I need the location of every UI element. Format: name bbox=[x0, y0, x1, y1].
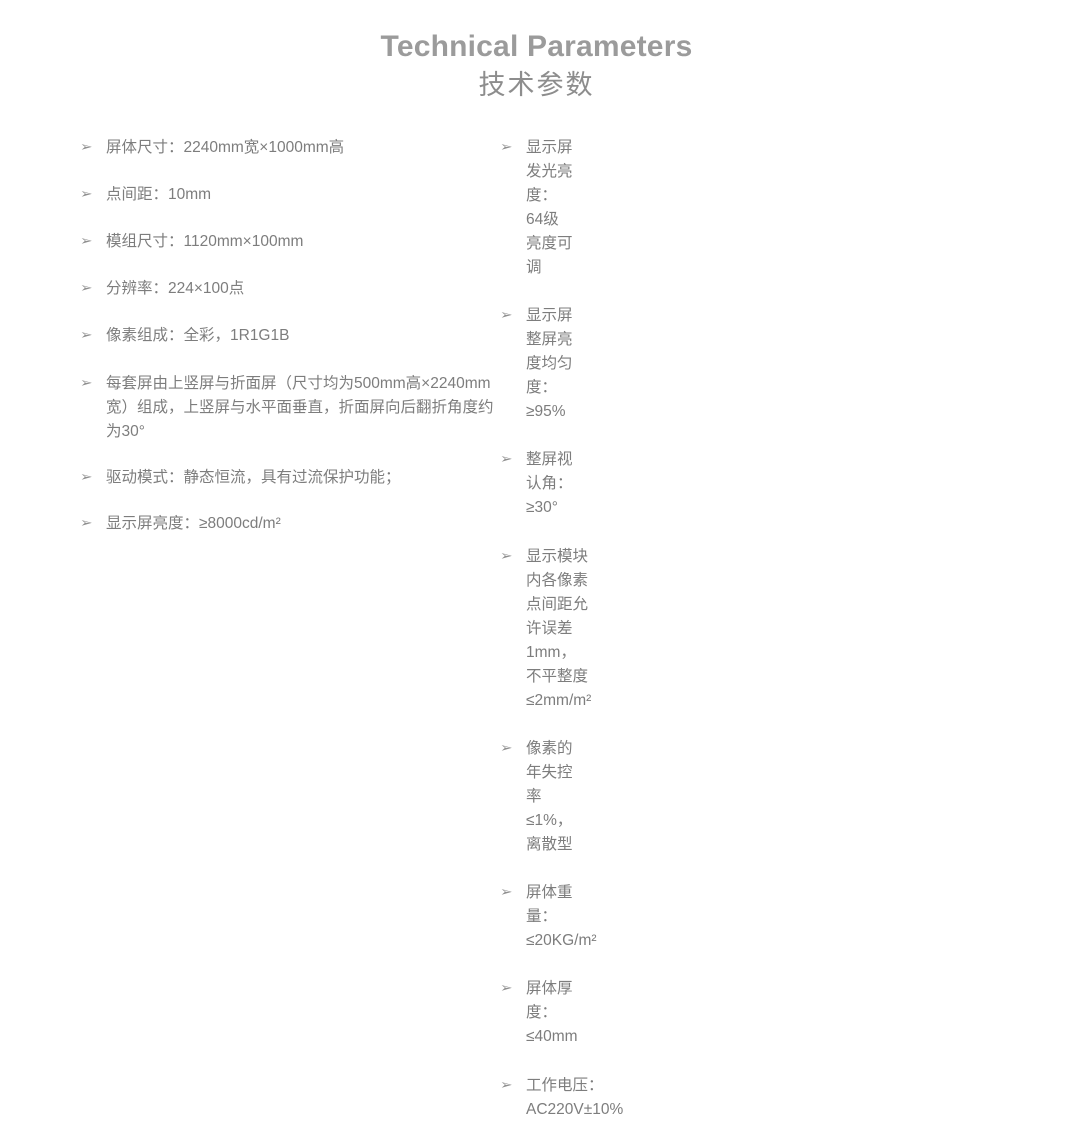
arrow-bullet-icon: ➢ bbox=[80, 466, 110, 489]
spec-item-text: 像素的年失控率≤1%，离散型 bbox=[526, 737, 573, 857]
spec-item: ➢ 像素的年失控率≤1%，离散型 bbox=[500, 737, 573, 857]
technical-parameters-page: Technical Parameters 技术参数 ➢ 屏体尺寸：2240mm宽… bbox=[0, 0, 1073, 567]
spec-item: ➢ 显示屏整屏亮度均匀度：≥95% bbox=[500, 304, 573, 424]
spec-item-text: 屏体厚度：≤40mm bbox=[526, 977, 578, 1049]
arrow-bullet-icon: ➢ bbox=[80, 372, 110, 395]
arrow-bullet-icon: ➢ bbox=[500, 1074, 530, 1097]
spec-item-text: 显示屏整屏亮度均匀度：≥95% bbox=[526, 304, 573, 424]
arrow-bullet-icon: ➢ bbox=[500, 881, 530, 904]
page-title-chinese: 技术参数 bbox=[0, 68, 1073, 103]
spec-item-text: 屏体重量：≤20KG/m² bbox=[526, 881, 597, 953]
page-heading: Technical Parameters 技术参数 bbox=[0, 0, 1073, 103]
spec-item-text: 显示屏发光亮度：64级亮度可调 bbox=[526, 136, 573, 280]
spec-item: ➢ 屏体重量：≤20KG/m² bbox=[500, 881, 573, 953]
spec-item: ➢ 工作电压：AC220V±10% bbox=[500, 1074, 573, 1122]
spec-list-right: ➢ 显示屏发光亮度：64级亮度可调 ➢ 显示屏整屏亮度均匀度：≥95% ➢ 整屏… bbox=[500, 136, 573, 1122]
page-title-english: Technical Parameters bbox=[0, 28, 1073, 66]
spec-columns: ➢ 屏体尺寸：2240mm宽×1000mm高 ➢ 点间距：10mm ➢ 模组尺寸… bbox=[0, 136, 1073, 1122]
spec-item: ➢ 显示屏发光亮度：64级亮度可调 bbox=[500, 136, 573, 280]
arrow-bullet-icon: ➢ bbox=[80, 183, 110, 206]
arrow-bullet-icon: ➢ bbox=[80, 512, 110, 535]
spec-item: ➢ 显示模块内各像素点间距允许误差1mm，不平整度≤2mm/m² bbox=[500, 545, 573, 713]
arrow-bullet-icon: ➢ bbox=[80, 230, 110, 253]
arrow-bullet-icon: ➢ bbox=[80, 136, 110, 159]
arrow-bullet-icon: ➢ bbox=[500, 448, 530, 471]
spec-item-text: 工作电压：AC220V±10% bbox=[526, 1074, 623, 1122]
arrow-bullet-icon: ➢ bbox=[80, 277, 110, 300]
arrow-bullet-icon: ➢ bbox=[500, 737, 530, 760]
spec-item: ➢ 整屏视认角：≥30° bbox=[500, 448, 573, 520]
arrow-bullet-icon: ➢ bbox=[500, 136, 530, 159]
arrow-bullet-icon: ➢ bbox=[500, 304, 530, 327]
spec-item: ➢ 屏体厚度：≤40mm bbox=[500, 977, 573, 1049]
spec-item-text: 显示模块内各像素点间距允许误差1mm，不平整度≤2mm/m² bbox=[526, 545, 591, 713]
spec-item-text: 整屏视认角：≥30° bbox=[526, 448, 573, 520]
arrow-bullet-icon: ➢ bbox=[500, 545, 530, 568]
arrow-bullet-icon: ➢ bbox=[500, 977, 530, 1000]
arrow-bullet-icon: ➢ bbox=[80, 324, 110, 347]
